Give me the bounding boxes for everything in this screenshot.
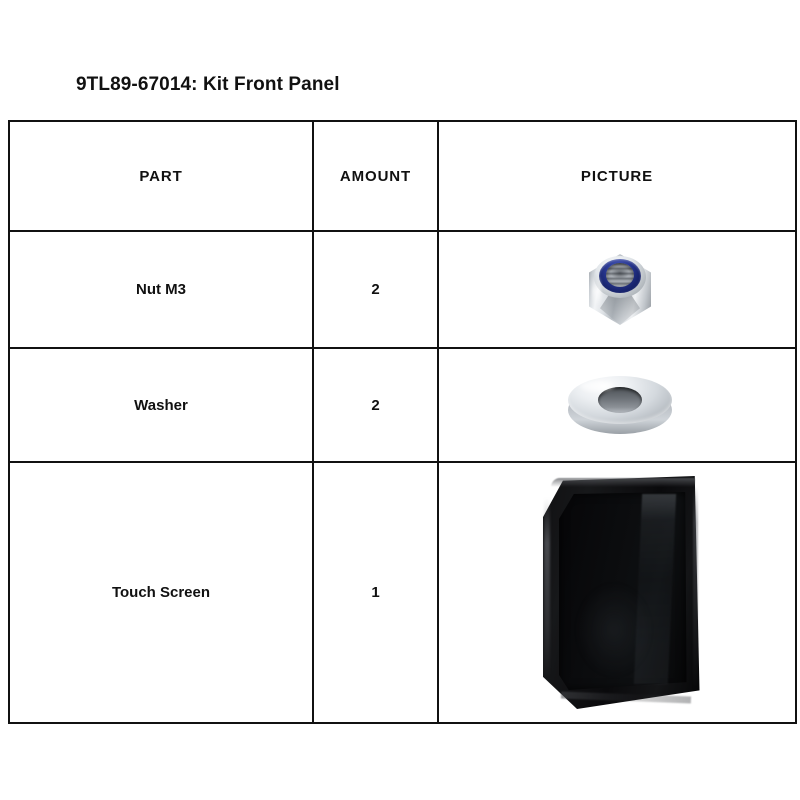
- nut-front-facet: [600, 295, 640, 325]
- part-amount-cell: 2: [313, 348, 438, 462]
- parts-table: PART AMOUNT PICTURE Nut M3 2: [8, 120, 797, 724]
- column-header-amount: AMOUNT: [313, 121, 438, 231]
- table-row: Touch Screen 1: [9, 462, 796, 723]
- table-header-row: PART AMOUNT PICTURE: [9, 121, 796, 231]
- screen-right-edge-sheen: [693, 486, 698, 691]
- screen-top-highlight: [551, 478, 695, 487]
- part-picture-cell: [438, 462, 796, 723]
- part-name-cell: Nut M3: [9, 231, 313, 348]
- part-name-cell: Touch Screen: [9, 462, 313, 723]
- nut-threaded-bore: [606, 263, 634, 287]
- column-header-picture: PICTURE: [438, 121, 796, 231]
- touch-screen-icon: [543, 476, 700, 709]
- part-name-cell: Washer: [9, 348, 313, 462]
- part-picture-cell: [438, 231, 796, 348]
- washer-highlight: [580, 381, 614, 391]
- flat-washer-icon: [568, 376, 672, 434]
- nut-highlight: [592, 276, 601, 306]
- part-amount-cell: 1: [313, 462, 438, 723]
- washer-center-hole: [598, 387, 642, 413]
- part-amount-cell: 2: [313, 231, 438, 348]
- nyloc-nut-icon: [589, 254, 651, 325]
- table-row: Nut M3 2: [9, 231, 796, 348]
- table-row: Washer 2: [9, 348, 796, 462]
- part-picture-cell: [438, 348, 796, 462]
- screen-left-highlight: [544, 498, 550, 678]
- page-title: 9TL89-67014: Kit Front Panel: [76, 74, 340, 96]
- column-header-part: PART: [9, 121, 313, 231]
